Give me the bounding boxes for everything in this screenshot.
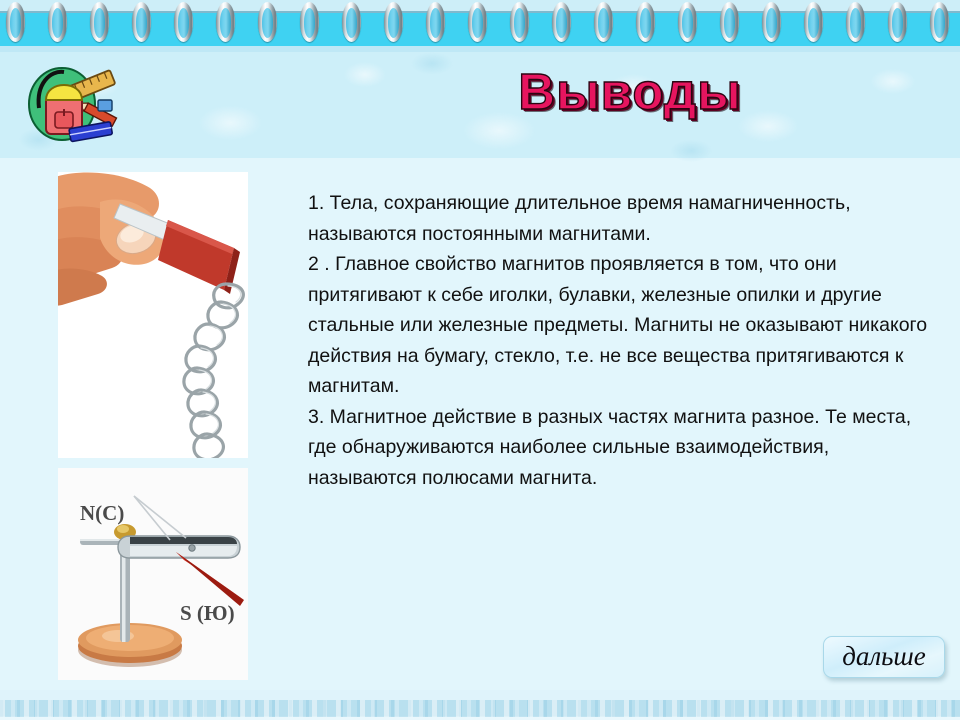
spiral-ring-icon — [6, 2, 25, 42]
spiral-ring-icon — [384, 2, 403, 42]
spiral-ring-icon — [552, 2, 571, 42]
spiral-ring-icon — [342, 2, 361, 42]
bottom-texture-strip — [0, 700, 960, 717]
spiral-ring-icon — [594, 2, 613, 42]
figure-magnetic-needle: N(C) S (Ю) — [58, 468, 248, 680]
page-title: Выводы — [420, 64, 840, 120]
spiral-ring-icon — [846, 2, 865, 42]
spiral-ring-icon — [804, 2, 823, 42]
spiral-ring-icon — [90, 2, 109, 42]
spiral-ring-icon — [468, 2, 487, 42]
spiral-ring-icon — [426, 2, 445, 42]
spiral-ring-icon — [48, 2, 67, 42]
spiral-ring-icon — [300, 2, 319, 42]
svg-text:N(C): N(C) — [80, 501, 124, 525]
spiral-ring-icon — [888, 2, 907, 42]
spiral-ring-icon — [678, 2, 697, 42]
next-button-label: дальше — [842, 643, 926, 672]
spiral-ring-icon — [258, 2, 277, 42]
body-text: 1. Тела, сохраняющие длительное время на… — [308, 188, 928, 493]
spiral-binding — [0, 0, 960, 52]
spiral-ring-icon — [636, 2, 655, 42]
spiral-ring-icon — [132, 2, 151, 42]
body-paragraph-2: 2 . Главное свойство магнитов проявляетс… — [308, 249, 928, 402]
spiral-ring-icon — [216, 2, 235, 42]
spiral-ring-icon — [762, 2, 781, 42]
spiral-ring-icon — [930, 2, 949, 42]
next-button[interactable]: дальше — [823, 636, 945, 678]
slide-canvas: Выводы — [0, 0, 960, 720]
school-backpack-icon — [12, 56, 120, 144]
spiral-ring-icon — [174, 2, 193, 42]
body-paragraph-3: 3. Магнитное действие в разных частях ма… — [308, 402, 928, 494]
body-paragraph-1: 1. Тела, сохраняющие длительное время на… — [308, 188, 928, 249]
spiral-ring-icon — [510, 2, 529, 42]
spiral-ring-icon — [720, 2, 739, 42]
figure-magnet-paperclips — [58, 172, 248, 458]
svg-text:S (Ю): S (Ю) — [180, 601, 235, 625]
